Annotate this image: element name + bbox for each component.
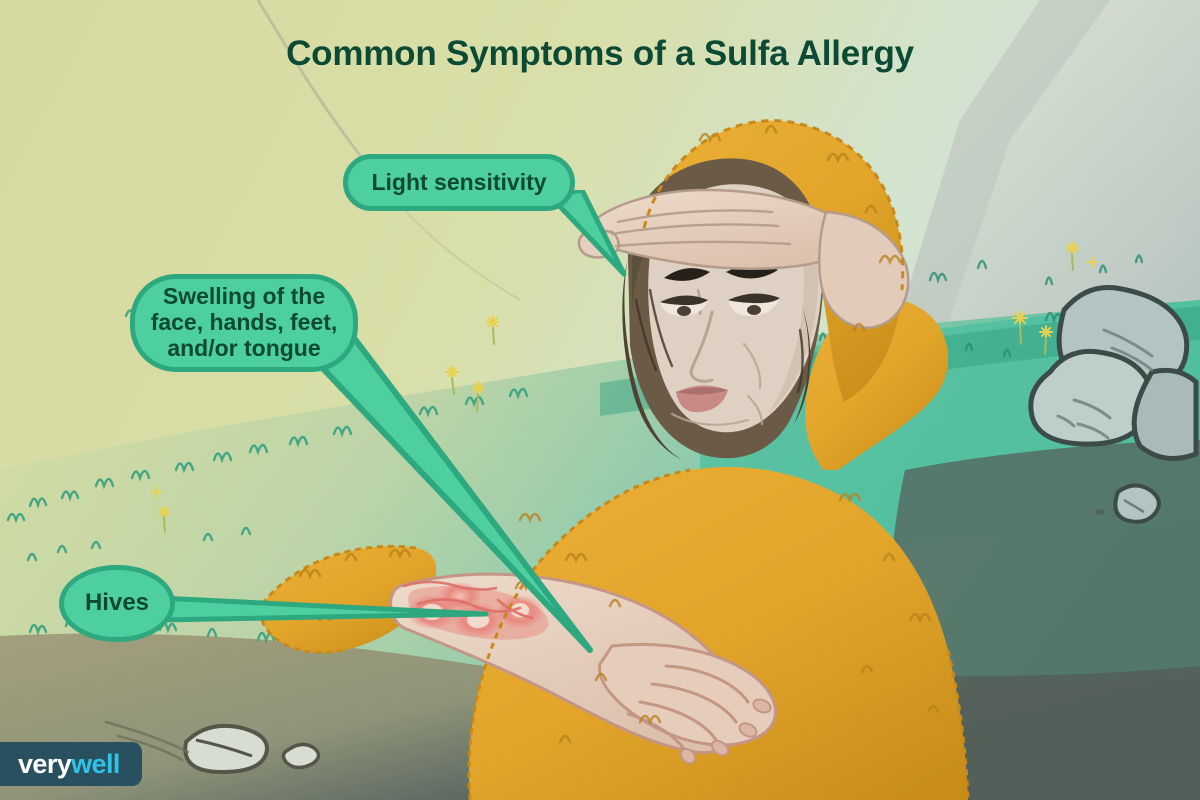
callout-hives: Hives: [59, 565, 175, 642]
callout-light-sensitivity-label: Light sensitivity: [371, 170, 546, 196]
infographic-canvas: Common Symptoms of a Sulfa Allergy Light…: [0, 0, 1200, 800]
callout-swelling-label: Swelling of the face, hands, feet, and/o…: [151, 284, 338, 361]
callout-swelling-line-2: face, hands, feet,: [151, 309, 338, 335]
iris-right: [747, 305, 761, 315]
callout-swelling: Swelling of the face, hands, feet, and/o…: [130, 274, 358, 372]
verywell-logo[interactable]: verywell: [0, 742, 142, 786]
callout-swelling-line-1: Swelling of the: [163, 283, 325, 309]
iris-left: [677, 306, 691, 316]
page-title: Common Symptoms of a Sulfa Allergy: [0, 34, 1200, 74]
callout-light-sensitivity: Light sensitivity: [343, 154, 575, 211]
logo-text-very: very: [18, 749, 71, 779]
logo-text-well: well: [71, 749, 120, 779]
illustration-scene: [0, 0, 1200, 800]
callout-hives-label: Hives: [85, 590, 149, 617]
logo-text: verywell: [18, 749, 120, 780]
pointer-hives: [160, 592, 490, 628]
callout-swelling-line-3: and/or tongue: [167, 335, 320, 361]
small-rock-right: [1115, 485, 1159, 521]
